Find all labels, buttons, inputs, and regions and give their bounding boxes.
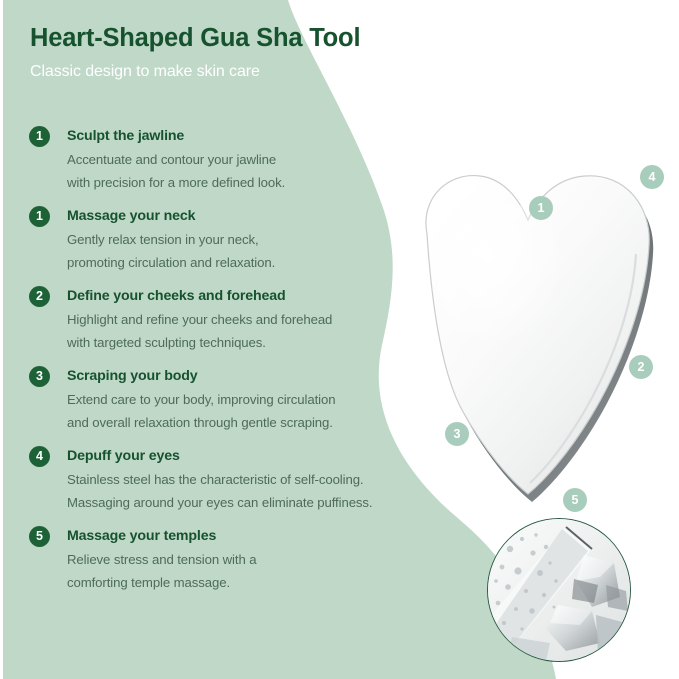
feature-number-badge: 4	[29, 446, 50, 467]
feature-description: Stainless steel has the characteristic o…	[67, 468, 397, 514]
feature-item-6: 5 Massage your temples Relieve stress an…	[29, 526, 397, 594]
feature-number-badge: 2	[29, 286, 50, 307]
feature-heading: Scraping your body	[67, 366, 397, 386]
page-subtitle: Classic design to make skin care	[30, 62, 510, 81]
feature-description: Gently relax tension in your neck, promo…	[67, 228, 397, 274]
feature-description-line: promoting circulation and relaxation.	[67, 251, 397, 274]
feature-item-3: 2 Define your cheeks and forehead Highli…	[29, 286, 397, 354]
callout-marker-1[interactable]: 1	[529, 196, 553, 220]
feature-description-line: Relieve stress and tension with a	[67, 548, 397, 571]
callout-marker-5[interactable]: 5	[563, 488, 587, 512]
feature-number-badge: 5	[29, 526, 50, 547]
feature-heading: Massage your neck	[67, 206, 397, 226]
feature-description-line: Gently relax tension in your neck,	[67, 228, 397, 251]
feature-description-line: Massaging around your eyes can eliminate…	[67, 491, 397, 514]
feature-description-line: with targeted sculpting techniques.	[67, 331, 397, 354]
inset-photo-water-ice	[487, 518, 631, 662]
feature-heading: Define your cheeks and forehead	[67, 286, 397, 306]
feature-list: 1 Sculpt the jawline Accentuate and cont…	[29, 126, 397, 594]
callout-marker-3[interactable]: 3	[445, 422, 469, 446]
feature-description: Extend care to your body, improving circ…	[67, 388, 397, 434]
feature-item-4: 3 Scraping your body Extend care to your…	[29, 366, 397, 434]
feature-description-line: Stainless steel has the characteristic o…	[67, 468, 397, 491]
feature-description-line: comforting temple massage.	[67, 571, 397, 594]
feature-description: Relieve stress and tension with a comfor…	[67, 548, 397, 594]
feature-item-5: 4 Depuff your eyes Stainless steel has t…	[29, 446, 397, 514]
feature-description-line: with precision for a more defined look.	[67, 171, 397, 194]
feature-number-badge: 3	[29, 366, 50, 387]
infographic-page: Heart-Shaped Gua Sha Tool Classic design…	[0, 0, 679, 679]
feature-heading: Massage your temples	[67, 526, 397, 546]
header: Heart-Shaped Gua Sha Tool Classic design…	[30, 24, 510, 82]
gua-sha-highlight	[438, 204, 582, 376]
feature-heading: Depuff your eyes	[67, 446, 397, 466]
feature-number-badge: 1	[29, 206, 50, 227]
feature-description: Highlight and refine your cheeks and for…	[67, 308, 397, 354]
callout-marker-4[interactable]: 4	[640, 165, 664, 189]
feature-heading: Sculpt the jawline	[67, 126, 397, 146]
feature-description-line: Extend care to your body, improving circ…	[67, 388, 397, 411]
feature-description-line: Accentuate and contour your jawline	[67, 148, 397, 171]
feature-description-line: Highlight and refine your cheeks and for…	[67, 308, 397, 331]
feature-description-line: and overall relaxation through gentle sc…	[67, 411, 397, 434]
feature-number-badge: 1	[29, 126, 50, 147]
feature-item-2: 1 Massage your neck Gently relax tension…	[29, 206, 397, 274]
feature-item-1: 1 Sculpt the jawline Accentuate and cont…	[29, 126, 397, 194]
callout-marker-2[interactable]: 2	[629, 355, 653, 379]
page-title: Heart-Shaped Gua Sha Tool	[30, 24, 510, 53]
feature-description: Accentuate and contour your jawline with…	[67, 148, 397, 194]
